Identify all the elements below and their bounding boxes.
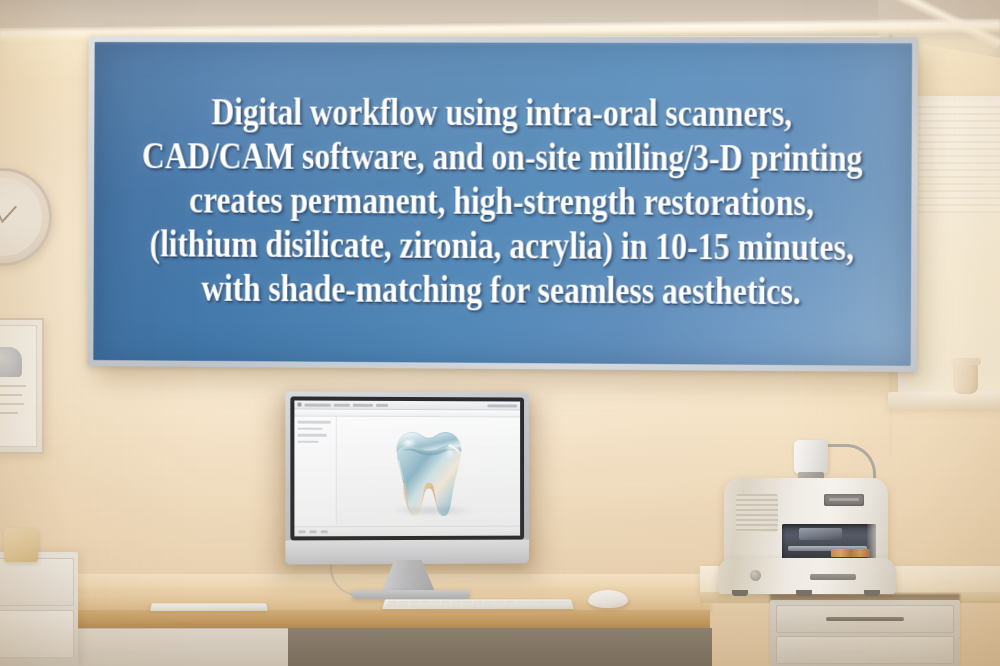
banner-text-block: Digital workflow using intra-oral scanne… — [94, 91, 912, 316]
key[interactable] — [516, 605, 526, 607]
clock-hour-hand — [2, 206, 17, 222]
sidebar-row[interactable] — [297, 440, 318, 443]
banner-frame: Digital workflow using intra-oral scanne… — [87, 36, 918, 372]
key[interactable] — [451, 605, 461, 607]
key[interactable] — [408, 605, 418, 607]
toolbar-menu-item[interactable] — [376, 403, 388, 406]
key[interactable] — [419, 605, 429, 607]
mouse[interactable] — [588, 590, 628, 608]
key[interactable] — [387, 605, 397, 607]
app-status-bar[interactable] — [294, 526, 520, 537]
banner-face: Digital workflow using intra-oral scanne… — [93, 42, 912, 366]
key[interactable] — [495, 605, 505, 607]
key[interactable] — [505, 605, 515, 607]
tooth-highlight-primary — [401, 439, 425, 454]
status-item[interactable] — [298, 530, 305, 533]
key[interactable] — [430, 605, 440, 607]
window-sill — [888, 392, 1000, 409]
toolbar-window-controls[interactable] — [488, 404, 518, 407]
certificate-text-line — [0, 385, 26, 387]
ceramic-milling-blocks — [831, 549, 870, 557]
sidebar-row[interactable] — [297, 427, 322, 430]
machine-foot — [864, 590, 880, 596]
milling-machine-body — [724, 478, 888, 570]
key[interactable] — [462, 605, 472, 607]
milling-machine-base — [718, 558, 896, 594]
sidebar-row[interactable] — [297, 434, 327, 437]
monitor-screen[interactable] — [294, 400, 520, 536]
app-sidebar-panel[interactable] — [294, 417, 336, 525]
desk-panel-under — [288, 628, 712, 666]
toolbar-menu-item[interactable] — [334, 403, 350, 406]
monitor-body — [285, 391, 529, 564]
suction-canister-module[interactable] — [794, 440, 828, 474]
certificate-text-line — [0, 403, 24, 405]
drawer-bottom[interactable] — [776, 636, 954, 664]
base-slot — [810, 574, 856, 580]
certificate-text-line — [0, 412, 18, 414]
ventilation-slots-icon — [736, 494, 778, 532]
key[interactable] — [548, 605, 558, 607]
cabinet-drawer-top[interactable] — [0, 558, 74, 606]
key[interactable] — [484, 605, 494, 607]
keyboard[interactable] — [382, 599, 574, 609]
key[interactable] — [527, 605, 537, 607]
storage-cabinet[interactable] — [0, 552, 78, 666]
machine-foot — [732, 590, 748, 596]
key[interactable] — [441, 605, 451, 607]
key[interactable] — [538, 605, 548, 607]
key[interactable] — [559, 605, 569, 607]
cabinet-drawer-bottom[interactable] — [0, 610, 74, 658]
tooth-contact-shadow — [390, 506, 475, 515]
milling-spindle — [799, 528, 842, 540]
control-display-panel[interactable] — [824, 494, 864, 506]
display-readout — [829, 498, 859, 501]
key[interactable] — [473, 605, 483, 607]
tooth-3d-viewport[interactable] — [347, 421, 510, 522]
information-banner[interactable]: Digital workflow using intra-oral scanne… — [87, 36, 918, 372]
monitor-bezel — [290, 396, 524, 540]
status-item[interactable] — [310, 530, 317, 533]
banner-line-5: with shade-matching for seamless aesthet… — [137, 265, 867, 318]
certificate-image — [0, 347, 22, 377]
milling-machine[interactable] — [718, 440, 896, 598]
drawer-handle-icon[interactable] — [826, 617, 903, 621]
toolbar-menu-item[interactable] — [353, 403, 373, 406]
desk-edge — [0, 610, 710, 629]
desktop-monitor[interactable] — [285, 391, 529, 564]
clinic-scene: Digital workflow using intra-oral scanne… — [0, 0, 1000, 666]
base-knob-icon[interactable] — [750, 570, 761, 581]
milling-chamber[interactable] — [782, 524, 876, 560]
certificate-text-line — [0, 394, 22, 396]
key[interactable] — [397, 605, 407, 607]
paper-tray[interactable] — [150, 603, 268, 611]
keyboard-keys[interactable] — [387, 601, 570, 607]
machine-foot — [796, 590, 812, 596]
certificate-inner — [0, 325, 37, 447]
monitor-stand-base — [352, 590, 470, 599]
sidebar-row[interactable] — [297, 421, 330, 424]
vase — [953, 358, 978, 394]
toolbar-menu-item[interactable] — [305, 403, 331, 406]
status-item[interactable] — [321, 530, 328, 533]
framed-certificate — [0, 318, 44, 454]
clock-face — [0, 178, 42, 256]
desk-drawer-unit[interactable] — [770, 600, 960, 666]
banner-line-1: Digital workflow using intra-oral scanne… — [137, 89, 867, 140]
cabinet-top-object — [4, 528, 38, 562]
drawer-top[interactable] — [776, 605, 954, 633]
toolbar-icon[interactable] — [297, 403, 301, 407]
